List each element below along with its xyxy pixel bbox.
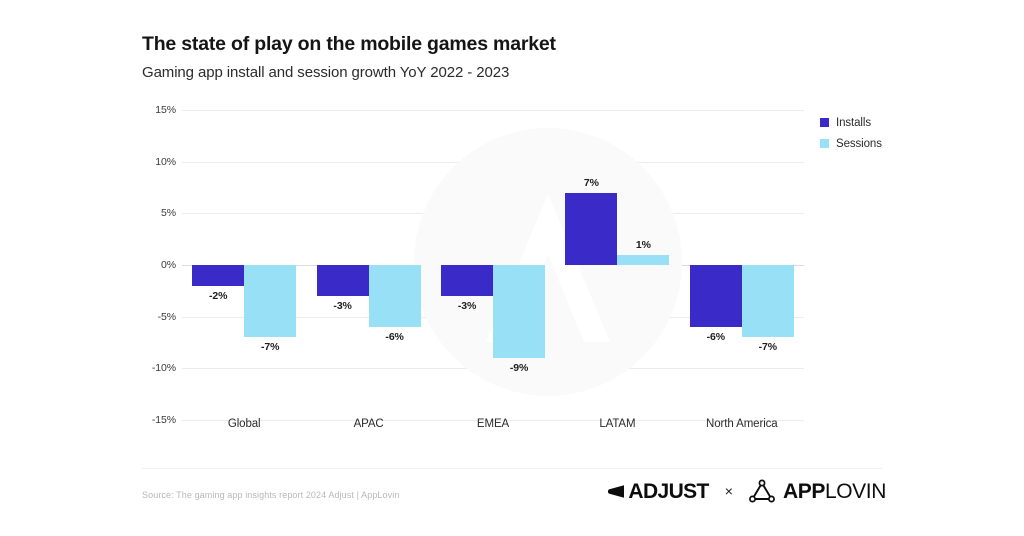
applovin-logo: APPLOVIN: [749, 479, 886, 503]
page-title: The state of play on the mobile games ma…: [142, 34, 842, 55]
x-axis-label-apac: APAC: [306, 418, 430, 430]
bar-apac-sessions[interactable]: -6%: [369, 265, 421, 327]
legend-swatch-installs: [820, 118, 829, 127]
plot-grid: -2%-7%-3%-6%-3%-9%7%1%-6%-7%: [182, 110, 804, 420]
bar-value-label: 7%: [584, 177, 599, 189]
legend-swatch-sessions: [820, 139, 829, 148]
x-axis-label-emea: EMEA: [431, 418, 555, 430]
legend-label-sessions: Sessions: [836, 138, 882, 150]
bar-value-label: -6%: [385, 331, 403, 343]
x-axis-label-global: Global: [182, 418, 306, 430]
slide-canvas: The state of play on the mobile games ma…: [0, 0, 1024, 536]
bar-group: 7%1%: [555, 110, 679, 420]
chart-header: The state of play on the mobile games ma…: [142, 34, 842, 82]
bar-latam-sessions[interactable]: 1%: [617, 255, 669, 265]
y-axis-tick-label: -15%: [152, 414, 176, 426]
x-axis-label-latam: LATAM: [555, 418, 679, 430]
applovin-wordmark-bold: APP: [783, 480, 825, 503]
adjust-logo: ADJUST: [608, 481, 708, 502]
bar-value-label: 1%: [636, 239, 651, 251]
bar-emea-sessions[interactable]: -9%: [493, 265, 545, 358]
bar-value-label: -3%: [458, 300, 476, 312]
bar-latam-installs[interactable]: 7%: [565, 193, 617, 265]
y-axis-tick-label: 5%: [161, 207, 176, 219]
chart-legend: Installs Sessions: [820, 112, 882, 154]
x-axis-labels: GlobalAPACEMEALATAMNorth America: [182, 418, 804, 430]
footer-divider: [142, 468, 882, 469]
y-axis-tick-label: -10%: [152, 362, 176, 374]
bar-value-label: -9%: [510, 362, 528, 374]
bar-value-label: -7%: [759, 341, 777, 353]
page-subtitle: Gaming app install and session growth Yo…: [142, 65, 842, 82]
bar-value-label: -6%: [707, 331, 725, 343]
chart-plot-area: 15%10%5%0%-5%-10%-15% -2%-7%-3%-6%-3%-9%…: [142, 110, 804, 420]
bar-value-label: -3%: [333, 300, 351, 312]
y-axis: 15%10%5%0%-5%-10%-15%: [142, 110, 176, 420]
y-axis-tick-label: 0%: [161, 259, 176, 271]
bar-value-label: -2%: [209, 290, 227, 302]
bar-group: -3%-9%: [431, 110, 555, 420]
bar-apac-installs[interactable]: -3%: [317, 265, 369, 296]
bar-global-sessions[interactable]: -7%: [244, 265, 296, 337]
bar-north-america-sessions[interactable]: -7%: [742, 265, 794, 337]
legend-item-installs[interactable]: Installs: [820, 112, 882, 133]
legend-label-installs: Installs: [836, 117, 871, 129]
bar-group: -2%-7%: [182, 110, 306, 420]
y-axis-tick-label: -5%: [158, 311, 176, 323]
bar-global-installs[interactable]: -2%: [192, 265, 244, 286]
bar-groups: -2%-7%-3%-6%-3%-9%7%1%-6%-7%: [182, 110, 804, 420]
bar-north-america-installs[interactable]: -6%: [690, 265, 742, 327]
adjust-wordmark: ADJUST: [628, 481, 708, 502]
bar-group: -6%-7%: [680, 110, 804, 420]
bar-value-label: -7%: [261, 341, 279, 353]
y-axis-tick-label: 10%: [155, 156, 176, 168]
y-axis-tick-label: 15%: [155, 104, 176, 116]
adjust-mark-icon: [608, 484, 625, 499]
applovin-mark-icon: [749, 479, 775, 503]
applovin-wordmark: APPLOVIN: [783, 481, 886, 502]
bar-group: -3%-6%: [306, 110, 430, 420]
source-note: Source: The gaming app insights report 2…: [142, 490, 399, 500]
bar-emea-installs[interactable]: -3%: [441, 265, 493, 296]
legend-item-sessions[interactable]: Sessions: [820, 133, 882, 154]
applovin-wordmark-light: LOVIN: [825, 480, 886, 503]
footer-logos: ADJUST × APPLOVIN: [608, 479, 886, 503]
logo-separator-icon: ×: [723, 484, 735, 498]
x-axis-label-north-america: North America: [680, 418, 804, 430]
